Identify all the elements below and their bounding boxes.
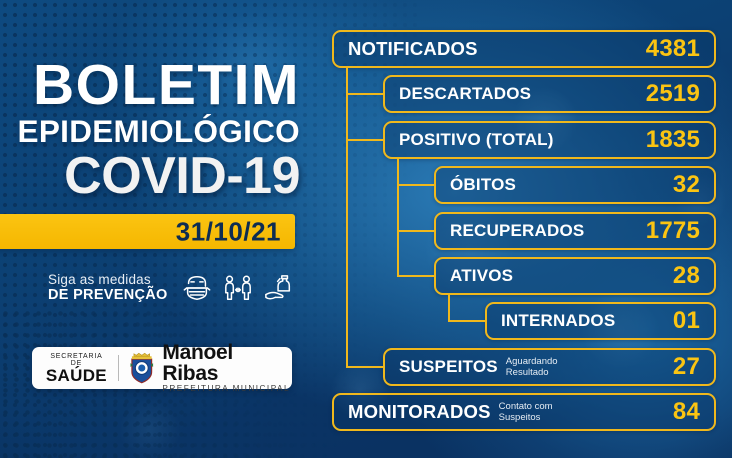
date-text: 31/10/21 — [176, 216, 281, 247]
stat-label: NOTIFICADOS — [348, 38, 478, 60]
health-dept-logo: SECRETARIA DE SAÚDE — [32, 353, 109, 384]
stat-row[interactable]: POSITIVO (TOTAL)1835 — [383, 121, 716, 159]
tree-branch-line — [346, 139, 383, 141]
stat-row[interactable]: MONITORADOSContato com Suspeitos84 — [332, 393, 716, 431]
stat-label: POSITIVO (TOTAL) — [399, 130, 554, 150]
left-panel: BOLETIM EPIDEMIOLÓGICO COVID-19 31/10/21… — [0, 0, 320, 458]
title-boletim: BOLETIM — [0, 58, 300, 113]
prevention-icons — [182, 273, 294, 303]
stat-label: RECUPERADOS — [450, 221, 584, 241]
stat-value: 2519 — [646, 80, 700, 108]
title-epidemiologico: EPIDEMIOLÓGICO — [0, 115, 300, 148]
stat-label: INTERNADOS — [501, 311, 615, 331]
prevention-text: Siga as medidas DE PREVENÇÃO — [48, 272, 168, 303]
stat-label: ÓBITOS — [450, 175, 516, 195]
stat-row[interactable]: NOTIFICADOS4381 — [332, 30, 716, 68]
logo-bar: SECRETARIA DE SAÚDE Manoel Ribas PREFEIT… — [32, 347, 292, 389]
stat-value: 27 — [673, 353, 700, 381]
stat-value: 1835 — [646, 126, 700, 154]
title-covid19: COVID-19 — [0, 150, 300, 202]
tree-branch-line — [397, 184, 434, 186]
stat-label: MONITORADOS — [348, 401, 491, 423]
stat-label: DESCARTADOS — [399, 84, 531, 104]
face-mask-icon — [182, 273, 212, 303]
stat-value: 84 — [673, 398, 700, 426]
statistics-tree: NOTIFICADOS4381DESCARTADOS2519POSITIVO (… — [330, 22, 722, 434]
prevention-line2: DE PREVENÇÃO — [48, 287, 168, 303]
logo-divider — [118, 355, 119, 381]
stat-row[interactable]: ÓBITOS32 — [434, 166, 716, 204]
stat-row[interactable]: RECUPERADOS1775 — [434, 212, 716, 250]
stat-value: 28 — [673, 262, 700, 290]
stat-label: SUSPEITOS — [399, 357, 498, 377]
tree-branch-line — [448, 320, 485, 322]
tree-trunk-line — [397, 159, 399, 276]
tree-branch-line — [397, 275, 434, 277]
covid-bulletin-poster: BOLETIM EPIDEMIOLÓGICO COVID-19 31/10/21… — [0, 0, 732, 458]
prevention-notice: Siga as medidas DE PREVENÇÃO — [48, 272, 298, 303]
tree-trunk-line — [448, 295, 450, 321]
city-logo: Manoel Ribas PREFEITURA MUNICIPAL — [128, 342, 292, 393]
stat-row[interactable]: INTERNADOS01 — [485, 302, 716, 340]
prevention-line1: Siga as medidas — [48, 272, 168, 287]
health-dept-big-label: SAÚDE — [44, 367, 109, 384]
tree-branch-line — [346, 93, 383, 95]
stat-row[interactable]: SUSPEITOSAguardando Resultado27 — [383, 348, 716, 386]
stat-value: 4381 — [646, 35, 700, 63]
stat-row[interactable]: ATIVOS28 — [434, 257, 716, 295]
hand-sanitizer-icon — [264, 273, 294, 303]
stat-value: 01 — [673, 307, 700, 335]
city-coat-of-arms-icon — [128, 352, 156, 384]
stat-value: 1775 — [646, 217, 700, 245]
city-subtitle: PREFEITURA MUNICIPAL — [162, 385, 292, 393]
tree-trunk-line — [346, 68, 348, 367]
stat-value: 32 — [673, 171, 700, 199]
city-text: Manoel Ribas PREFEITURA MUNICIPAL — [162, 342, 292, 393]
date-banner: 31/10/21 — [0, 214, 295, 249]
health-dept-small-label: SECRETARIA DE — [44, 353, 109, 367]
city-name: Manoel Ribas — [162, 342, 292, 384]
page-title: BOLETIM EPIDEMIOLÓGICO COVID-19 — [0, 58, 300, 202]
tree-branch-line — [397, 230, 434, 232]
stat-label: ATIVOS — [450, 266, 513, 286]
tree-branch-line — [346, 366, 383, 368]
stat-row[interactable]: DESCARTADOS2519 — [383, 75, 716, 113]
stat-sublabel: Aguardando Resultado — [506, 356, 558, 378]
stat-sublabel: Contato com Suspeitos — [499, 401, 553, 423]
social-distancing-icon — [223, 273, 253, 303]
